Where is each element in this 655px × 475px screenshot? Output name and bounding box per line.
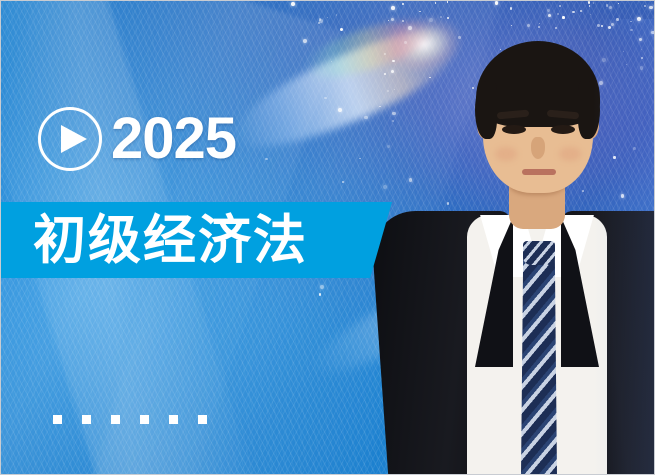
play-triangle-icon [61, 125, 87, 153]
star-dot [327, 17, 328, 18]
star-dot [319, 18, 322, 21]
star-dot [319, 293, 322, 296]
dot-2 [82, 415, 91, 424]
course-title: 初级经济法 [1, 202, 392, 278]
dot-5 [169, 415, 178, 424]
dot-6 [198, 415, 207, 424]
star-dot [523, 252, 526, 255]
star-dot [291, 2, 295, 6]
star-dot [320, 285, 324, 289]
star-dot [484, 262, 488, 266]
course-cover-card[interactable]: 2025 初级经济法 [0, 0, 655, 475]
dot-1 [53, 415, 62, 424]
dot-3 [111, 415, 120, 424]
dot-4 [140, 415, 149, 424]
star-dot [553, 270, 556, 273]
light-streak-right [546, 291, 655, 461]
star-dot [592, 273, 595, 276]
dots-row [53, 415, 207, 424]
star-dot [319, 19, 323, 23]
star-dot [336, 14, 337, 15]
star-dot [557, 262, 559, 264]
star-dot [318, 22, 320, 24]
play-button-icon[interactable] [38, 107, 102, 171]
star-dot [485, 252, 488, 255]
year-label: 2025 [111, 107, 236, 171]
star-dot [594, 272, 595, 273]
